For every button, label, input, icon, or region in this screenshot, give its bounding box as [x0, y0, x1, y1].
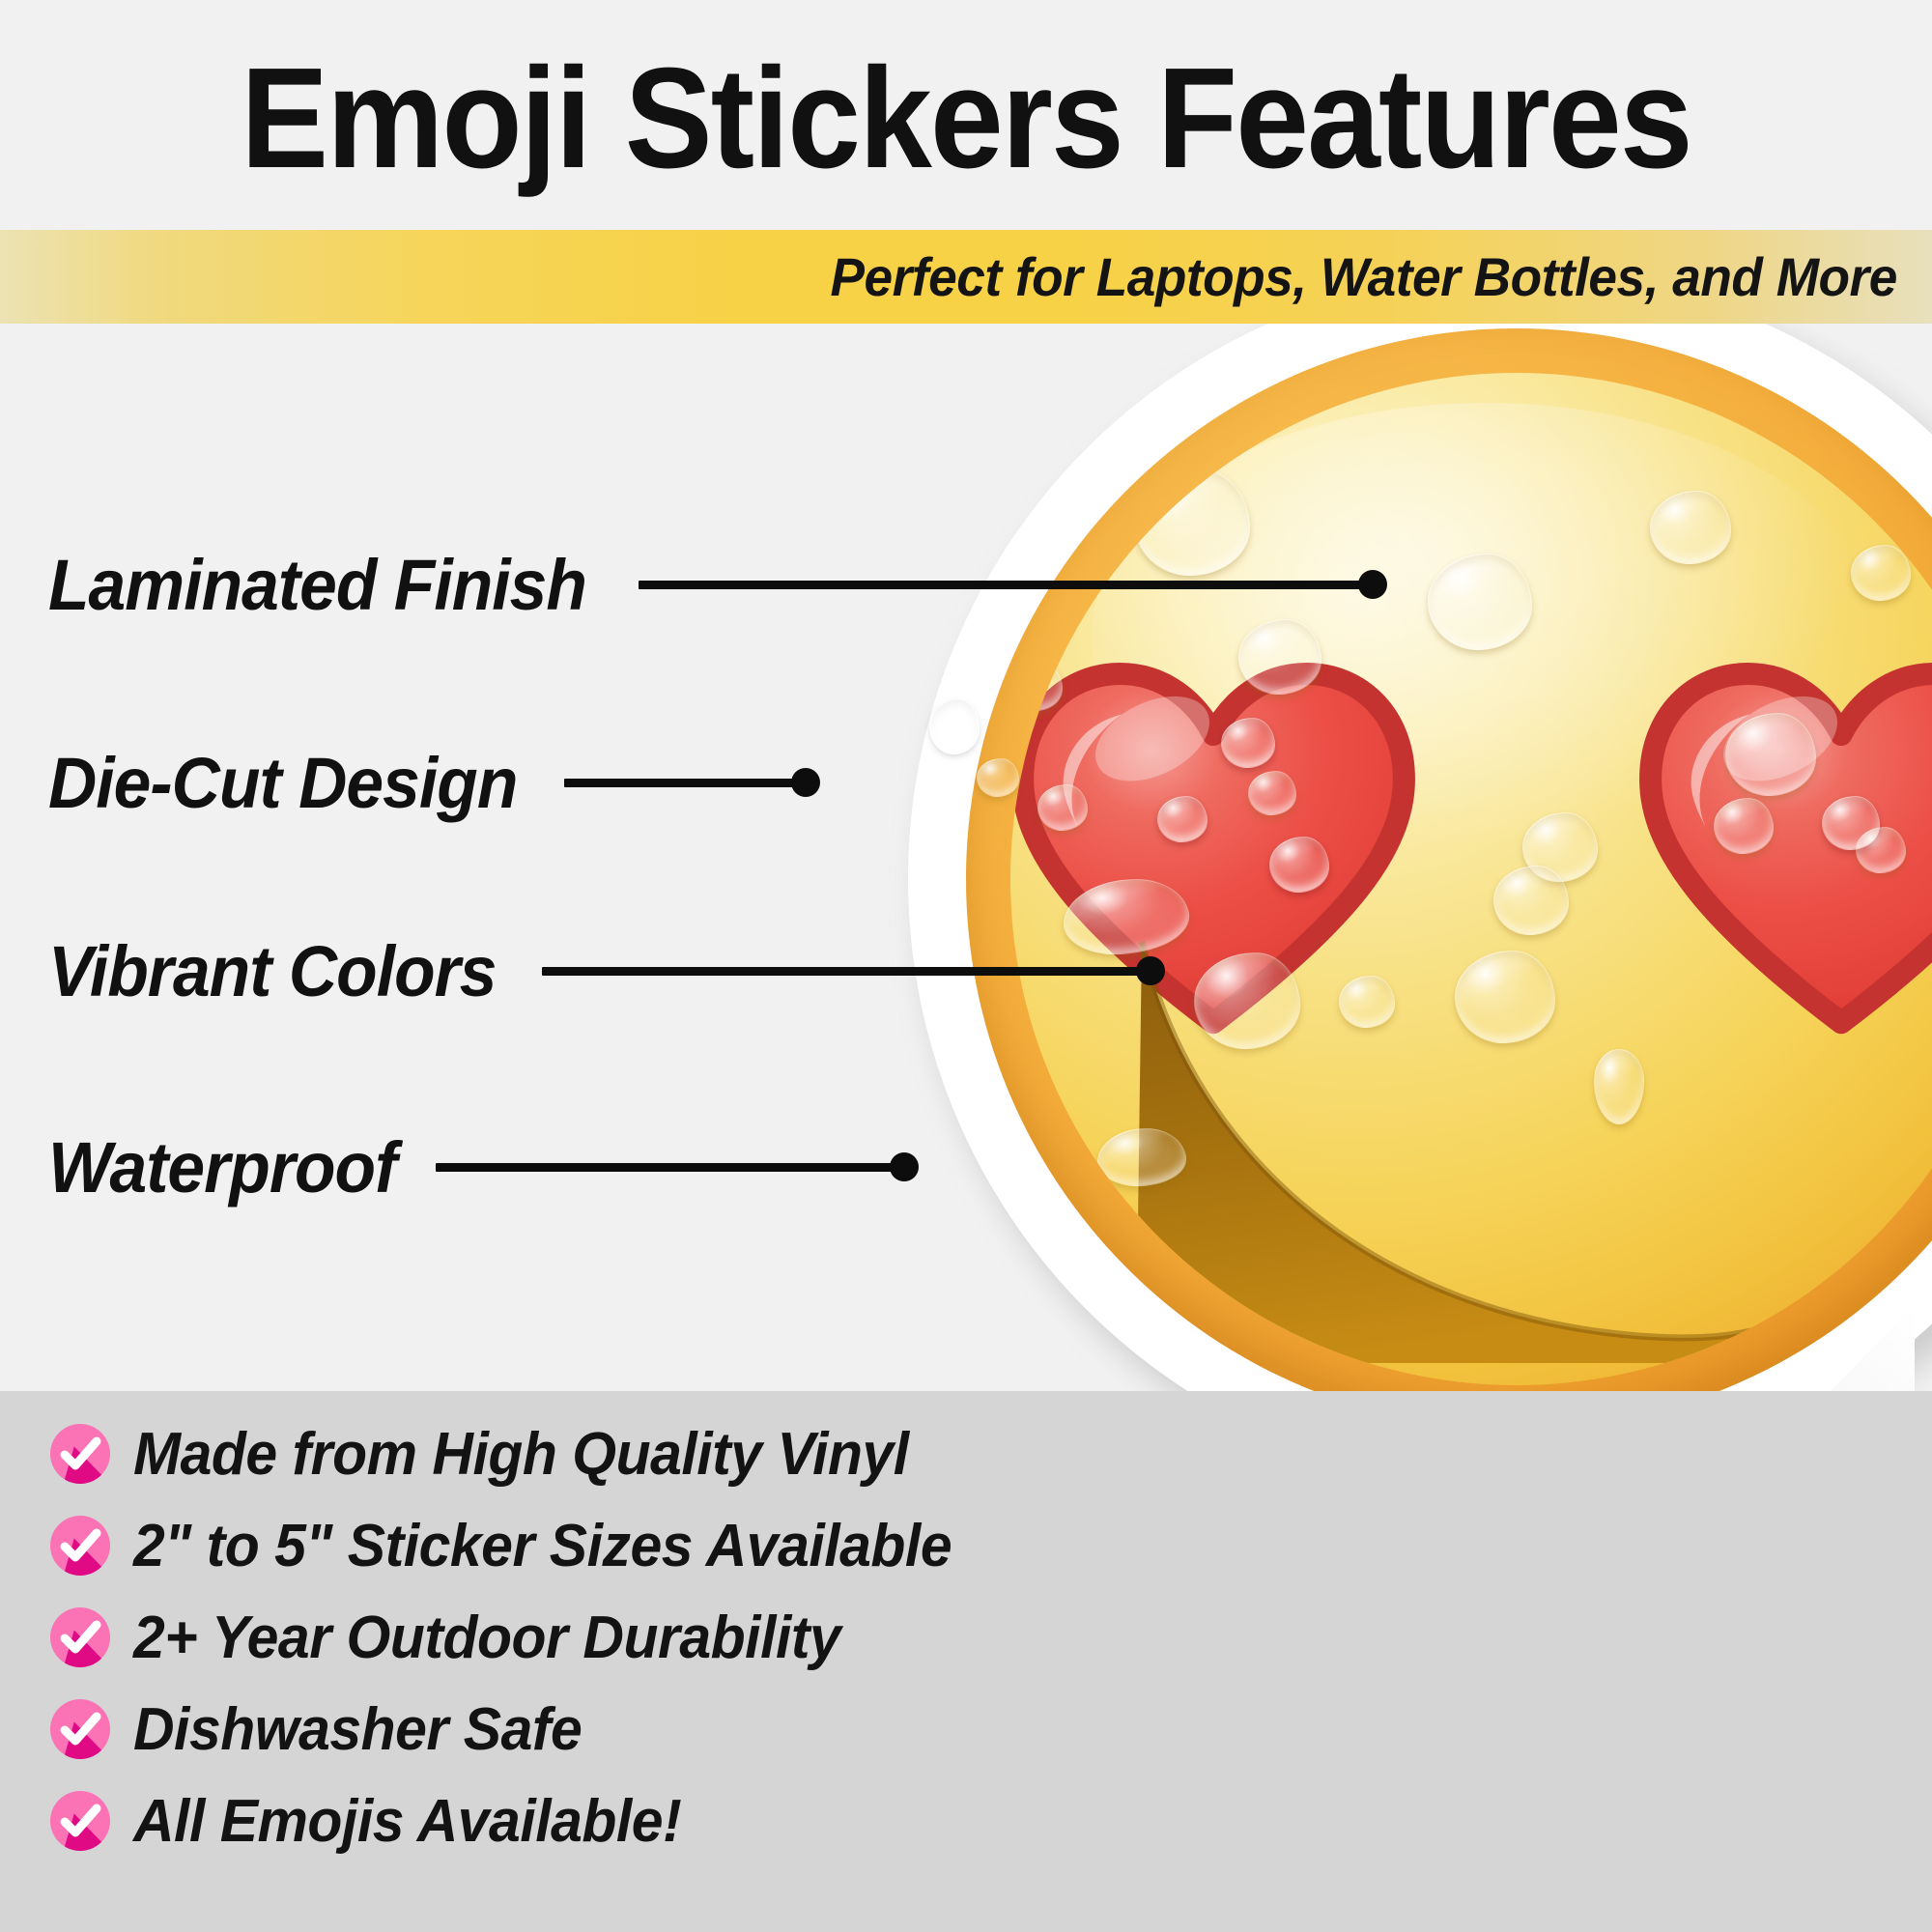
water-droplet — [1248, 771, 1296, 815]
leader-endpoint-dot — [1358, 570, 1387, 599]
list-item: All Emojis Available! — [50, 1779, 995, 1862]
page-title: Emoji Stickers Features — [77, 46, 1855, 191]
leader-endpoint-dot — [1136, 956, 1165, 985]
water-droplet — [1714, 798, 1774, 854]
callout-label: Laminated Finish — [48, 544, 586, 626]
water-droplet — [1339, 976, 1395, 1028]
callout-laminated-finish: Laminated Finish — [48, 541, 1373, 628]
water-droplet — [1822, 796, 1880, 850]
water-droplet — [1428, 554, 1532, 650]
page-subtitle: Perfect for Laptops, Water Bottles, and … — [97, 230, 1932, 324]
checklist: Made from High Quality Vinyl 2" to 5" St… — [50, 1412, 995, 1871]
list-item-label: Dishwasher Safe — [133, 1695, 582, 1764]
list-item-label: All Emojis Available! — [133, 1787, 681, 1856]
check-circle-icon — [50, 1699, 110, 1759]
water-droplet — [977, 758, 1019, 797]
water-droplet — [1097, 1128, 1186, 1186]
water-droplet — [1221, 718, 1275, 768]
list-item: Dishwasher Safe — [50, 1688, 995, 1771]
list-item: 2" to 5" Sticker Sizes Available — [50, 1504, 995, 1587]
infographic-canvas: Emoji Stickers Features Perfect for Lapt… — [0, 0, 1932, 1932]
leader-line — [436, 1163, 904, 1172]
water-droplet — [1238, 619, 1321, 695]
callout-waterproof: Waterproof — [48, 1123, 904, 1210]
water-droplet — [1851, 545, 1911, 601]
callout-vibrant-colors: Vibrant Colors — [48, 927, 1151, 1014]
water-droplet — [1725, 713, 1816, 796]
list-item-label: 2" to 5" Sticker Sizes Available — [133, 1512, 952, 1580]
list-item: 2+ Year Outdoor Durability — [50, 1596, 995, 1679]
water-droplet — [1455, 951, 1555, 1043]
checklist-panel: Made from High Quality Vinyl 2" to 5" St… — [0, 1391, 1932, 1932]
water-droplet — [929, 698, 980, 754]
leader-line — [542, 967, 1151, 976]
callout-label: Vibrant Colors — [48, 930, 497, 1012]
water-droplet — [1010, 663, 1063, 711]
leader-line — [564, 779, 806, 787]
list-item-label: Made from High Quality Vinyl — [133, 1420, 909, 1489]
subtitle-band: Perfect for Laptops, Water Bottles, and … — [0, 230, 1932, 324]
water-droplet — [1037, 784, 1088, 831]
emoji-face — [1010, 373, 1932, 1385]
check-circle-icon — [50, 1424, 110, 1484]
callout-die-cut-design: Die-Cut Design — [48, 739, 806, 826]
callout-label: Waterproof — [48, 1126, 396, 1208]
list-item: Made from High Quality Vinyl — [50, 1412, 995, 1495]
water-droplet — [1157, 796, 1207, 842]
water-droplet — [1194, 952, 1300, 1049]
water-droplet — [1269, 837, 1329, 893]
check-circle-icon — [50, 1516, 110, 1576]
list-item-label: 2+ Year Outdoor Durability — [133, 1604, 840, 1672]
callout-label: Die-Cut Design — [48, 742, 517, 824]
check-circle-icon — [50, 1791, 110, 1851]
leader-line — [639, 581, 1373, 589]
water-droplet — [1650, 491, 1731, 564]
water-droplet — [1493, 866, 1569, 935]
check-circle-icon — [50, 1607, 110, 1667]
